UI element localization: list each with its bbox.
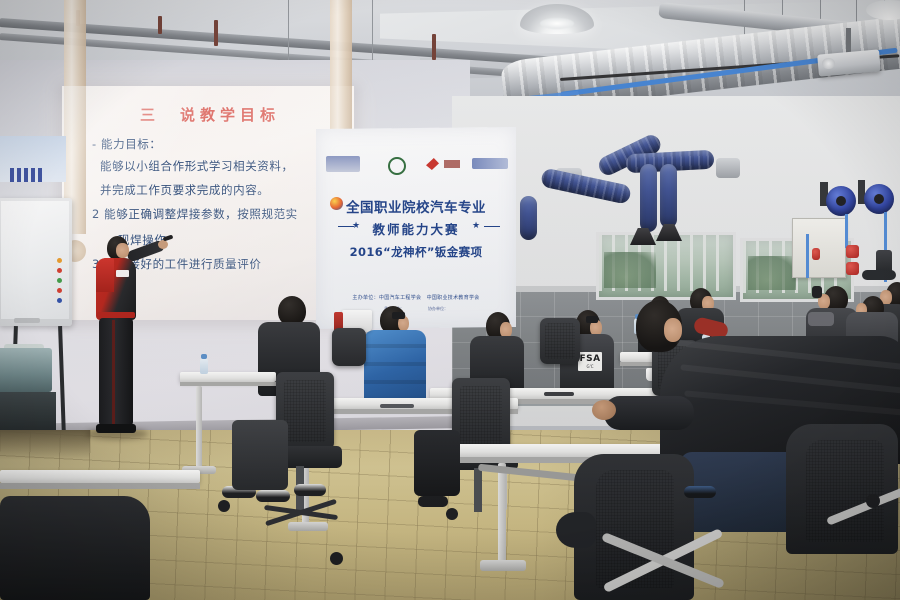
- table-leg: [196, 386, 202, 468]
- caster-wheel: [866, 494, 880, 508]
- air-line: [845, 214, 848, 248]
- fume-arm-drop: [660, 164, 677, 228]
- jacket-text-sub: G'C: [587, 364, 594, 369]
- presenter-shoes: [96, 424, 136, 433]
- audience-shoe: [256, 490, 290, 502]
- slide-title: 三 说教学目标: [92, 104, 328, 125]
- presenter-trouser-stripe: [112, 320, 115, 424]
- banner-rule-left: [338, 226, 354, 227]
- whiteboard-magnet[interactable]: [57, 258, 62, 263]
- banner-rule-right: [484, 226, 500, 227]
- hose-reel-hub: [874, 194, 884, 204]
- wall-poster-bar-graphic: [10, 168, 44, 182]
- window-foliage: [748, 256, 796, 290]
- foreground-chair-mesh: [806, 440, 884, 542]
- jacket-quilt-line: [364, 362, 426, 366]
- foreground-chair-left[interactable]: [0, 496, 150, 600]
- presenter-hand: [158, 240, 168, 249]
- eyeglasses-icon: [586, 316, 598, 323]
- audience-shoe: [684, 486, 716, 498]
- foreground-person-hand: [592, 400, 616, 420]
- hose-reel-hub: [836, 196, 846, 206]
- slide-bullet-3: 2 能够正确调整焊接参数，按照规范实: [92, 206, 298, 222]
- chair-mesh: [545, 323, 575, 359]
- banner-subtitle: 教师能力大赛: [320, 219, 512, 238]
- red-valve[interactable]: [812, 248, 820, 260]
- sponsor-logo-row: [322, 156, 512, 174]
- projector-mount: [846, 28, 851, 54]
- fume-arm-drop: [520, 196, 537, 240]
- red-valve[interactable]: [846, 262, 859, 275]
- audience-legs: [232, 420, 288, 490]
- bottle-cap: [201, 354, 207, 359]
- workshop-machine-base: [0, 392, 56, 430]
- jacket-quilt-line: [364, 344, 426, 348]
- coiled-hose: [862, 270, 896, 280]
- audience-shoe: [418, 496, 448, 507]
- pipe-hanger-icon: [158, 16, 162, 34]
- circle-logo-icon: [388, 157, 406, 175]
- presenter-jacket-red-panel: [96, 258, 114, 292]
- workshop-machine: [0, 348, 52, 392]
- banner-main-title: 全国职业院校汽车专业: [320, 196, 512, 216]
- pipe-hanger-icon: [214, 20, 218, 46]
- duct-collar: [716, 158, 740, 178]
- whiteboard-magnet[interactable]: [57, 278, 62, 283]
- chair-back[interactable]: [332, 328, 366, 366]
- pen-on-table[interactable]: [380, 404, 414, 408]
- chair-mesh: [460, 386, 502, 446]
- banner-year-line: 2016“龙神杯”钣金赛项: [320, 244, 512, 260]
- audience-scarf: [808, 312, 834, 326]
- presenter-badge: [116, 270, 129, 277]
- water-bottle[interactable]: [200, 358, 208, 374]
- presenter-legs: [99, 318, 133, 426]
- table-edge: [0, 483, 200, 489]
- whiteboard-marker-tray: [14, 318, 40, 323]
- jacket-back-patch: FSA G'C: [578, 352, 602, 371]
- whiteboard-magnet[interactable]: [57, 288, 62, 293]
- fume-arm-drop: [640, 164, 657, 232]
- table-side-small: [180, 372, 276, 382]
- caster-wheel: [330, 552, 343, 565]
- banner-host-line: 主办单位：中国汽车工程学会 中国职业技术教育学会: [322, 294, 510, 301]
- table-foreground-left: [0, 470, 200, 483]
- window-foliage: [604, 252, 656, 288]
- whiteboard-magnet[interactable]: [57, 298, 62, 303]
- table-edge: [180, 382, 276, 386]
- partner-logo-icon: [472, 158, 508, 169]
- audience-shoe: [294, 484, 326, 496]
- red-valve[interactable]: [846, 245, 859, 258]
- caster-wheel: [446, 508, 458, 520]
- banner-star-right: ★: [472, 221, 480, 231]
- pipe-hanger-icon: [432, 34, 436, 60]
- eyeglasses-icon: [812, 286, 822, 298]
- chair-armrest[interactable]: [556, 512, 596, 548]
- longshen-logo-icon: [426, 158, 439, 170]
- table-leg: [498, 463, 506, 563]
- jacket-text-main: FSA: [579, 354, 600, 364]
- slide-bullet-1: 能够以小组合作形式学习相关资料，: [100, 158, 294, 174]
- presenter-face: [116, 243, 129, 258]
- china-sae-logo-icon: [326, 156, 360, 172]
- whiteboard-magnet[interactable]: [57, 268, 62, 273]
- table-foot: [480, 560, 526, 571]
- table-foot: [288, 522, 328, 531]
- foreground-person-face: [664, 318, 682, 342]
- air-line: [806, 234, 809, 278]
- slide-heading: - 能力目标：: [92, 136, 162, 152]
- chair-mesh: [284, 380, 326, 442]
- projector-lens-icon: [822, 58, 835, 69]
- caster-wheel: [218, 500, 230, 512]
- eyeglasses-icon: [392, 312, 405, 319]
- light-glow: [540, 18, 574, 29]
- jacket-quilt-line: [364, 380, 426, 384]
- photo-scene: 三 说教学目标 - 能力目标： 能够以小组合作形式学习相关资料， 并完成工作页要…: [0, 0, 900, 600]
- pen-on-table[interactable]: [544, 392, 574, 396]
- audience-legs: [414, 430, 460, 496]
- foreground-person-arm: [604, 396, 694, 430]
- chair-post: [474, 468, 482, 512]
- slide-bullet-2: 并完成工作页要求完成的内容。: [100, 182, 269, 198]
- audience-torso-blue-jacket: [364, 330, 426, 408]
- longshen-logo-text: [444, 160, 460, 168]
